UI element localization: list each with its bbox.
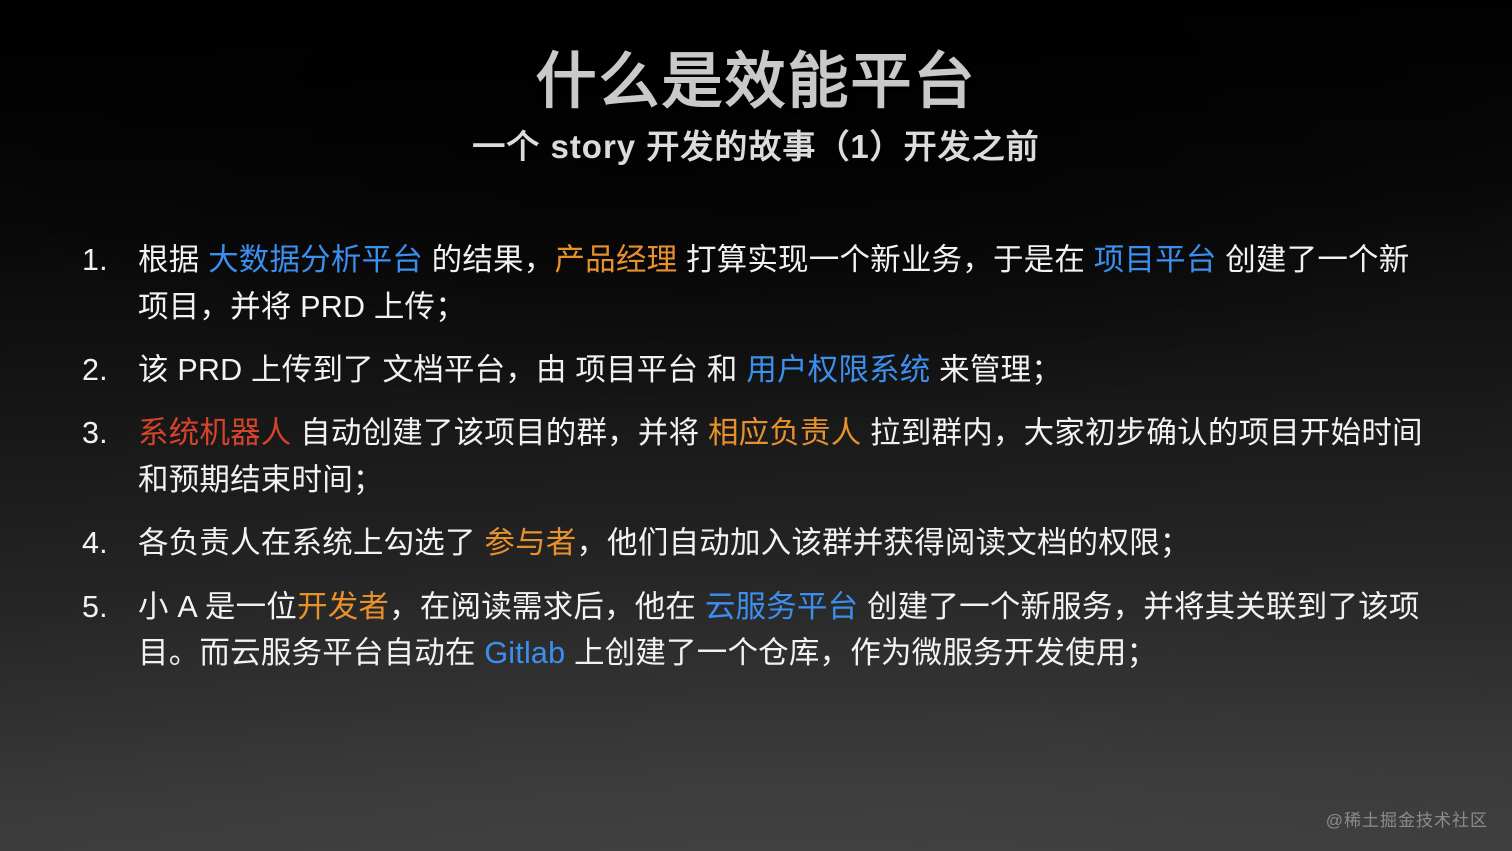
text-segment: 云服务平台 (705, 590, 859, 624)
text-segment: 项目平台 (1094, 243, 1217, 277)
text-segment: 各负责人在系统上勾选了 (138, 526, 484, 560)
text-segment: 系统机器人 (138, 416, 292, 450)
story-step-list: 根据 大数据分析平台 的结果，产品经理 打算实现一个新业务，于是在 项目平台 创… (0, 237, 1512, 676)
slide-header: 什么是效能平台 一个 story 开发的故事（1）开发之前 (0, 0, 1512, 167)
text-segment: 上创建了一个仓库，作为微服务开发使用； (565, 636, 1157, 670)
text-segment: ，在阅读需求后，他在 (389, 590, 705, 624)
page-title: 什么是效能平台 (0, 46, 1512, 116)
text-segment: Gitlab (484, 636, 565, 670)
text-segment: 参与者 (484, 526, 576, 560)
watermark: @稀土掘金技术社区 (1326, 806, 1488, 831)
list-item: 根据 大数据分析平台 的结果，产品经理 打算实现一个新业务，于是在 项目平台 创… (82, 237, 1440, 330)
text-segment: 相应负责人 (708, 416, 862, 450)
text-segment: 该 PRD 上传到了 文档平台，由 项目平台 和 (138, 353, 746, 387)
list-item: 小 A 是一位开发者，在阅读需求后，他在 云服务平台 创建了一个新服务，并将其关… (82, 584, 1440, 677)
list-item: 各负责人在系统上勾选了 参与者，他们自动加入该群并获得阅读文档的权限； (82, 520, 1440, 566)
list-item: 系统机器人 自动创建了该项目的群，并将 相应负责人 拉到群内，大家初步确认的项目… (82, 410, 1440, 503)
text-segment: 产品经理 (554, 243, 677, 277)
text-segment: 用户权限系统 (746, 353, 930, 387)
presentation-slide: 什么是效能平台 一个 story 开发的故事（1）开发之前 根据 大数据分析平台… (0, 0, 1512, 851)
text-segment: 大数据分析平台 (208, 243, 423, 277)
text-segment: 自动创建了该项目的群，并将 (292, 416, 708, 450)
text-segment: ，他们自动加入该群并获得阅读文档的权限； (576, 526, 1190, 560)
slide-content: 什么是效能平台 一个 story 开发的故事（1）开发之前 根据 大数据分析平台… (0, 0, 1512, 851)
text-segment: 来管理； (930, 353, 1061, 387)
text-segment: 根据 (138, 243, 208, 277)
list-item: 该 PRD 上传到了 文档平台，由 项目平台 和 用户权限系统 来管理； (82, 347, 1440, 393)
page-subtitle: 一个 story 开发的故事（1）开发之前 (0, 126, 1512, 167)
text-segment: 开发者 (297, 590, 389, 624)
text-segment: 打算实现一个新业务，于是在 (677, 243, 1093, 277)
text-segment: 的结果， (423, 243, 554, 277)
text-segment: 小 A 是一位 (138, 590, 297, 624)
